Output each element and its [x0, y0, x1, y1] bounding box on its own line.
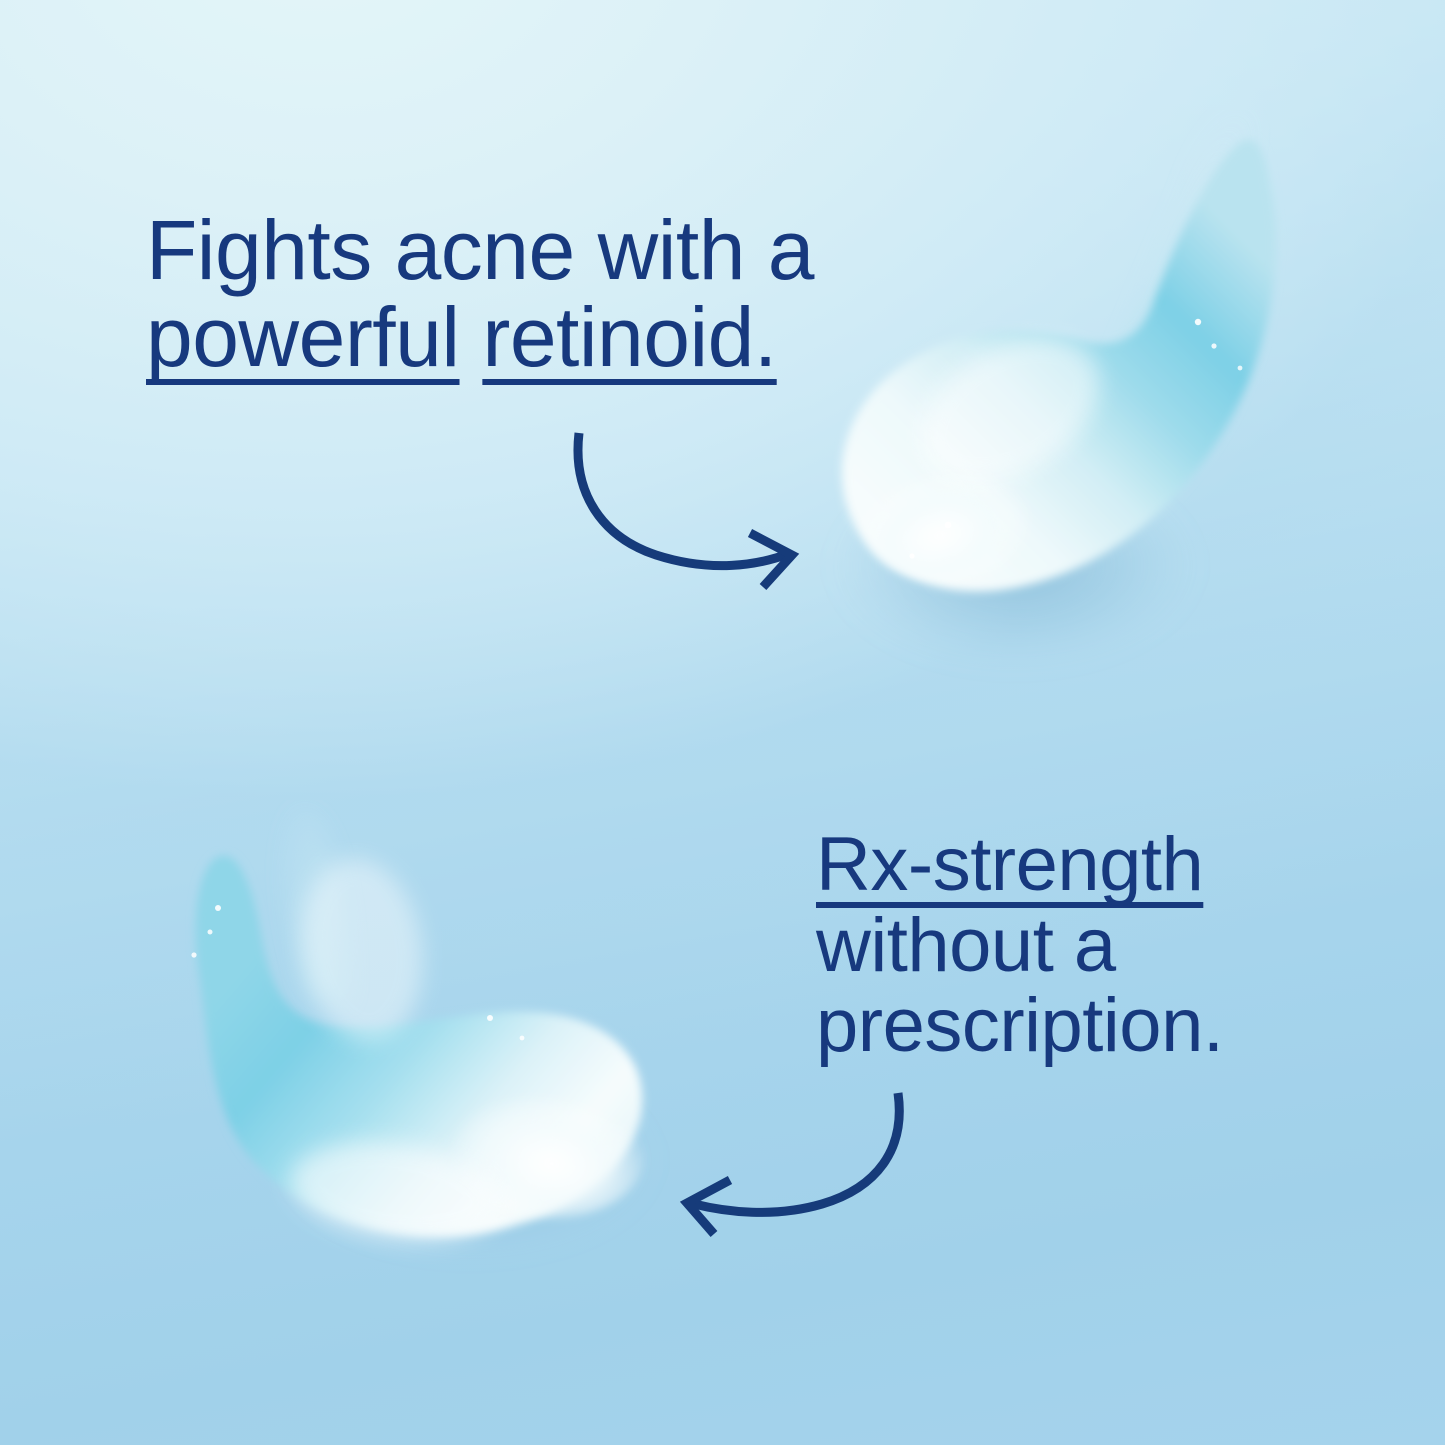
- claim-retinoid-underlined-word-1: powerful: [146, 290, 460, 384]
- curved-arrow-left-icon: [670, 1080, 930, 1230]
- cream-swatch-bottom: [140, 800, 680, 1300]
- product-claim-banner: Fights acne with a powerful retinoid. Rx…: [0, 0, 1445, 1445]
- claim-retinoid-underlined-word-2: retinoid.: [482, 290, 776, 384]
- claim-retinoid-text-1: Fights acne with a: [146, 203, 814, 297]
- claim-retinoid: Fights acne with a powerful retinoid.: [146, 207, 814, 382]
- claim-retinoid-line-2: powerful retinoid.: [146, 294, 814, 381]
- claim-retinoid-line-1: Fights acne with a: [146, 207, 814, 294]
- cream-swatch-top: [800, 110, 1320, 710]
- claim-retinoid-space: [460, 290, 483, 384]
- curved-arrow-right-icon: [560, 415, 820, 585]
- claim-rx-strength-underlined-word: Rx-strength: [816, 822, 1203, 907]
- claim-rx-strength-text-2: without a: [816, 903, 1116, 988]
- claim-rx-strength-line-3: prescription.: [816, 986, 1223, 1067]
- claim-rx-strength-line-2: without a: [816, 906, 1223, 987]
- cream-swatch-bottom-graphic: [140, 800, 680, 1300]
- claim-rx-strength-text-3: prescription.: [816, 983, 1223, 1068]
- cream-swatch-top-graphic: [800, 110, 1320, 710]
- claim-rx-strength: Rx-strength without a prescription.: [816, 825, 1223, 1067]
- claim-rx-strength-line-1: Rx-strength: [816, 825, 1223, 906]
